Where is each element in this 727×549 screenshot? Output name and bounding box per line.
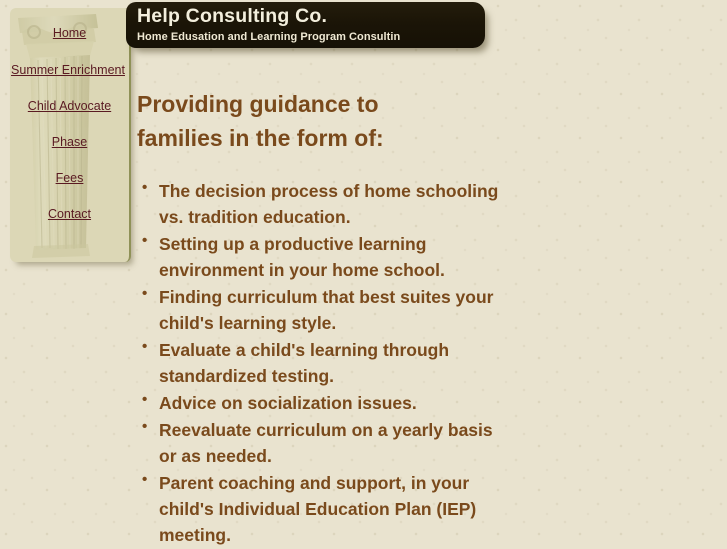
site-tagline: Home Edusation and Learning Program Cons…: [137, 31, 400, 43]
sidebar-item-summer-enrichment[interactable]: Summer Enrichment: [10, 63, 131, 77]
sidebar-item-phase[interactable]: Phase: [10, 135, 129, 149]
list-item: Setting up a productive learning environ…: [159, 231, 507, 283]
sidebar-item-child-advocate[interactable]: Child Advocate: [10, 99, 129, 113]
services-list: The decision process of home schooling v…: [137, 178, 697, 549]
sidebar-navigation: Home Summer Enrichment Child Advocate Ph…: [10, 8, 129, 262]
main-content: Providing guidance to families in the fo…: [137, 88, 697, 549]
list-item: The decision process of home schooling v…: [159, 178, 507, 230]
sidebar-panel: Home Summer Enrichment Child Advocate Ph…: [10, 8, 131, 262]
list-item: Parent coaching and support, in your chi…: [159, 470, 507, 548]
site-header-banner: Help Consulting Co. Home Edusation and L…: [126, 2, 485, 48]
page-title: Providing guidance to families in the fo…: [137, 88, 437, 156]
sidebar-item-fees[interactable]: Fees: [10, 171, 129, 185]
list-item: Finding curriculum that best suites your…: [159, 284, 507, 336]
sidebar-item-home[interactable]: Home: [10, 26, 129, 40]
site-title: Help Consulting Co.: [137, 5, 327, 28]
list-item: Reevaluate curriculum on a yearly basis …: [159, 417, 507, 469]
list-item: Evaluate a child's learning through stan…: [159, 337, 507, 389]
sidebar-item-contact[interactable]: Contact: [10, 207, 129, 221]
list-item: Advice on socialization issues.: [159, 390, 507, 416]
